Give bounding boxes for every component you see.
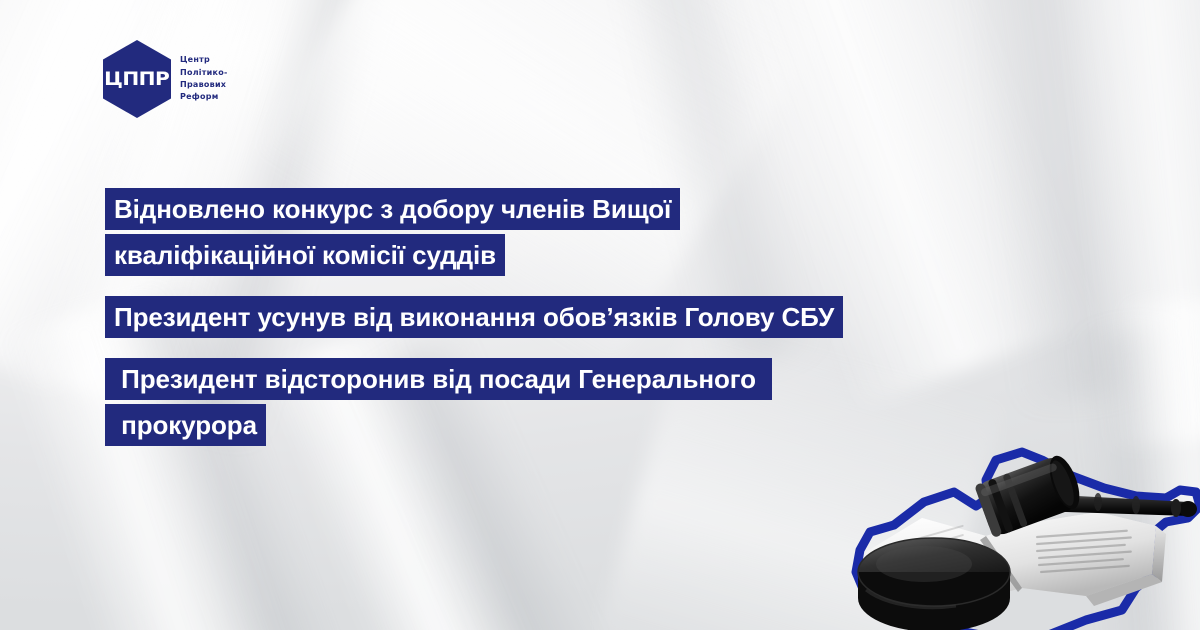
logo-name-line: Реформ	[180, 91, 228, 103]
headline-line: Президент усунув від виконання обов’язкі…	[105, 296, 843, 338]
headline-line: кваліфікаційної комісії суддів	[105, 234, 505, 276]
headline-line: Відновлено конкурс з добору членів Вищої	[105, 188, 680, 230]
headline-item: Президент відсторонив від посади Генерал…	[105, 358, 1105, 446]
logo-name-block: Центр Політико- Правових Реформ	[180, 54, 228, 104]
poster-canvas: ЦППР Центр Політико- Правових Реформ Від…	[0, 0, 1200, 630]
gavel-and-book-illustration	[836, 440, 1200, 630]
headline-item: Відновлено конкурс з добору членів Вищої…	[105, 188, 1105, 276]
headline-item: Президент усунув від виконання обов’язкі…	[105, 296, 1105, 338]
logo-name-line: Правових	[180, 79, 228, 91]
logo-name-line: Політико-	[180, 67, 228, 79]
organization-logo[interactable]: ЦППР Центр Політико- Правових Реформ	[103, 40, 228, 118]
logo-name-line: Центр	[180, 54, 228, 66]
headline-line: Президент відсторонив від посади Генерал…	[105, 358, 772, 400]
sound-block-icon	[858, 538, 1010, 630]
hexagon-icon: ЦППР	[103, 40, 171, 118]
logo-monogram: ЦППР	[104, 68, 169, 90]
headline-line: прокурора	[105, 404, 266, 446]
headline-list: Відновлено конкурс з добору членів Вищої…	[105, 188, 1105, 446]
